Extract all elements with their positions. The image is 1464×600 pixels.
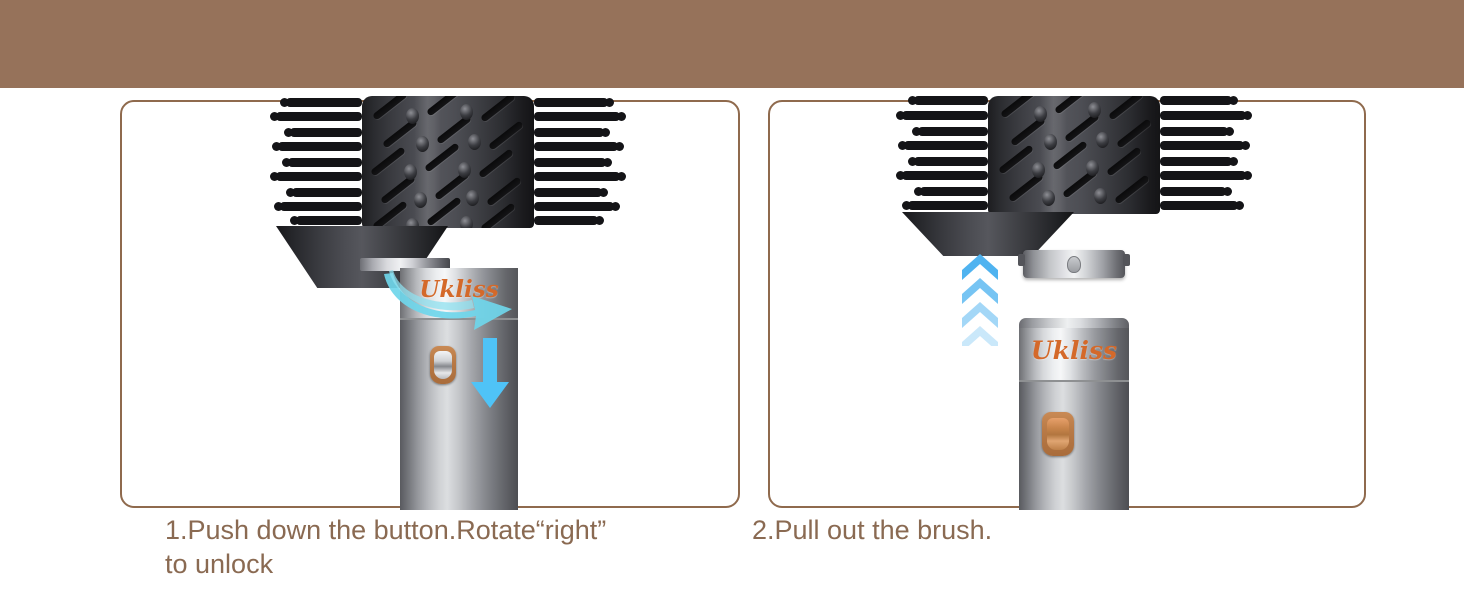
step-2-panel [768, 100, 1366, 508]
page-title: How to remove the brush? [397, 17, 1066, 71]
step-2-caption: 2.Pull out the brush. [752, 513, 1312, 547]
step-1-caption: 1.Push down the button.Rotate“right” to … [165, 513, 725, 581]
step-1-panel [120, 100, 740, 508]
header-banner: How to remove the brush? [0, 0, 1464, 88]
instruction-card: How to remove the brush? [0, 0, 1464, 600]
